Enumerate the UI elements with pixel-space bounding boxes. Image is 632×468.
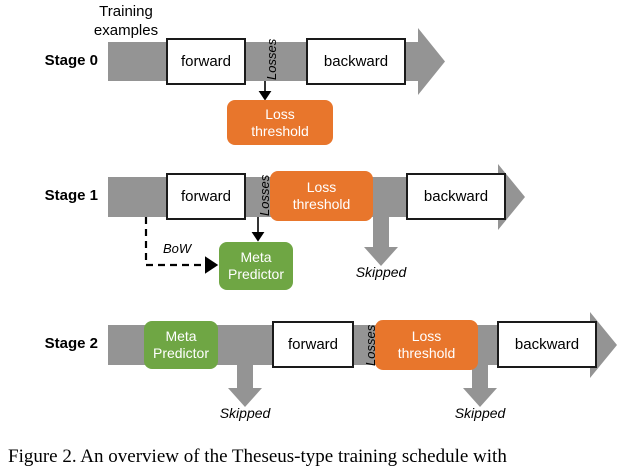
stage-1-loss-threshold-line-1: Loss [307, 179, 337, 196]
stage-1-forward-box[interactable]: forward [166, 173, 246, 220]
figure-canvas: Training examples Stage 0 forward Losses… [0, 0, 632, 458]
stage-2-meta-predictor-box[interactable]: Meta Predictor [144, 321, 218, 369]
stage-0-backward-box[interactable]: backward [306, 38, 406, 85]
stage-0-losses-label: Losses [264, 39, 279, 80]
stage-1-forward-label: forward [181, 188, 231, 205]
stage-2-skipped-label-1: Skipped [205, 405, 285, 421]
stage-0-forward-label: forward [181, 53, 231, 70]
stage-1-meta-predictor-box[interactable]: Meta Predictor [219, 242, 293, 290]
stage-2-forward-box[interactable]: forward [272, 321, 354, 368]
stage-2-meta-predictor-line-2: Predictor [153, 345, 209, 362]
stage-1-skipped-label: Skipped [341, 264, 421, 280]
stage-0-forward-box[interactable]: forward [166, 38, 246, 85]
training-examples-label: Training examples [78, 2, 174, 40]
stage-1-meta-predictor-line-2: Predictor [228, 266, 284, 283]
stage-1-label: Stage 1 [12, 187, 98, 204]
stage-2-meta-predictor-line-1: Meta [165, 328, 196, 345]
stage-2-backward-box[interactable]: backward [497, 321, 597, 368]
training-examples-line-1: Training [78, 2, 174, 21]
stage-2-loss-threshold-box[interactable]: Loss threshold [375, 320, 478, 370]
stage-2-skipped-label-2: Skipped [440, 405, 520, 421]
stage-1-loss-threshold-box[interactable]: Loss threshold [270, 171, 373, 221]
stage-1-backward-label: backward [424, 188, 488, 205]
stage-1-backward-box[interactable]: backward [406, 173, 506, 220]
stage-0-loss-threshold-line-1: Loss [265, 106, 295, 123]
stage-0-loss-threshold-line-2: threshold [251, 123, 309, 140]
stage-2-backward-label: backward [515, 336, 579, 353]
stage-0-label: Stage 0 [12, 52, 98, 69]
stage-1-meta-predictor-line-1: Meta [240, 249, 271, 266]
stage-1-bow-label: BoW [163, 241, 191, 256]
stage-1-loss-threshold-line-2: threshold [293, 196, 351, 213]
stage-2-forward-label: forward [288, 336, 338, 353]
stage-2-loss-threshold-line-1: Loss [412, 328, 442, 345]
stage-0-loss-threshold-box[interactable]: Loss threshold [227, 100, 333, 145]
stage-0-backward-label: backward [324, 53, 388, 70]
stage-2-label: Stage 2 [12, 335, 98, 352]
training-examples-line-2: examples [78, 21, 174, 40]
figure-caption: Figure 2. An overview of the Theseus-typ… [8, 446, 507, 468]
stage-2-loss-threshold-line-2: threshold [398, 345, 456, 362]
